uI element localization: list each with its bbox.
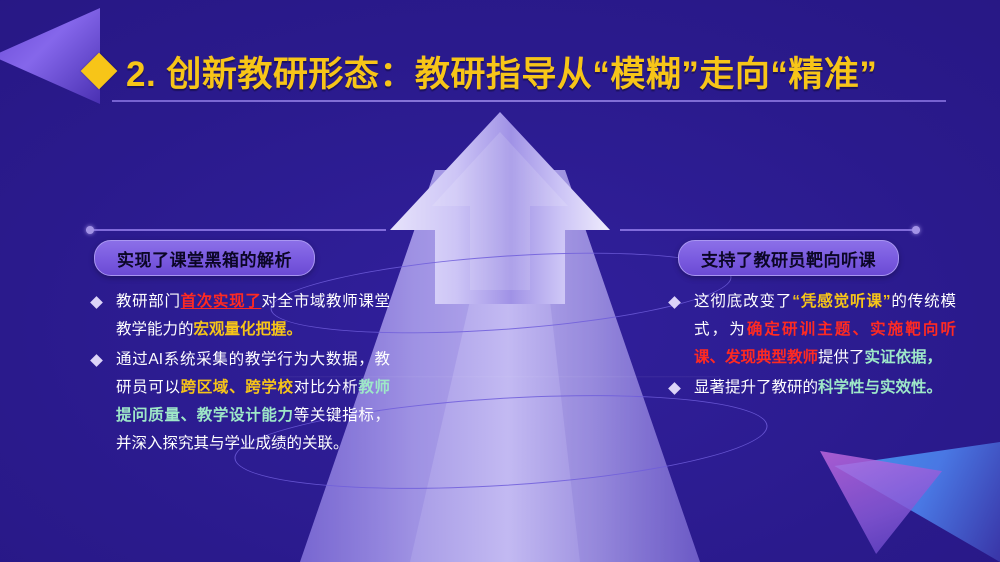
left-panel-badge[interactable]: 实现了课堂黑箱的解析 [94, 240, 315, 276]
list-item: 这彻底改变了“凭感觉听课”的传统模式，为确定研训主题、实施靶向听课、发现典型教师… [668, 288, 956, 372]
diamond-marker-icon [81, 53, 118, 90]
text-segment-highlight: 科学性与实效性。 [818, 379, 942, 396]
text-segment: 对比分析 [294, 379, 359, 396]
left-connector-dot [86, 226, 94, 234]
page-title: 2. 创新教研形态：教研指导从“模糊”走向“精准” [126, 46, 877, 97]
list-item: 显著提升了教研的科学性与实效性。 [668, 374, 956, 402]
left-connector-line [86, 229, 386, 231]
text-segment-highlight: 宏观量化把握。 [194, 321, 303, 338]
right-panel-body: 这彻底改变了“凭感觉听课”的传统模式，为确定研训主题、实施靶向听课、发现典型教师… [668, 288, 956, 404]
text-segment: 显著提升了教研的 [694, 379, 818, 396]
title-divider [112, 100, 946, 102]
text-segment: 教研部门 [116, 293, 181, 310]
right-connector-dot [912, 226, 920, 234]
left-panel-body: 教研部门首次实现了对全市域教师课堂教学能力的宏观量化把握。 通过AI系统采集的教… [90, 288, 390, 460]
text-segment: 这彻底改变了 [694, 293, 792, 310]
list-item: 通过AI系统采集的教学行为大数据，教研员可以跨区域、跨学校对比分析教师提问质量、… [90, 346, 390, 458]
list-item: 教研部门首次实现了对全市域教师课堂教学能力的宏观量化把握。 [90, 288, 390, 344]
top-left-triangle-decoration [0, 8, 100, 104]
right-panel-badge[interactable]: 支持了教研员靶向听课 [678, 240, 899, 276]
text-segment-highlight: 跨区域、跨学校 [181, 379, 294, 396]
right-connector-line [620, 229, 920, 231]
text-segment-highlight: 首次实现了 [181, 293, 262, 310]
text-segment-highlight: “凭感觉听课” [792, 293, 890, 310]
slide-title-row: 2. 创新教研形态：教研指导从“模糊”走向“精准” [86, 40, 966, 102]
text-segment-highlight: 实证依据， [865, 349, 943, 366]
slide-canvas: 2. 创新教研形态：教研指导从“模糊”走向“精准” [0, 0, 1000, 562]
text-segment: 提供了 [818, 349, 865, 366]
